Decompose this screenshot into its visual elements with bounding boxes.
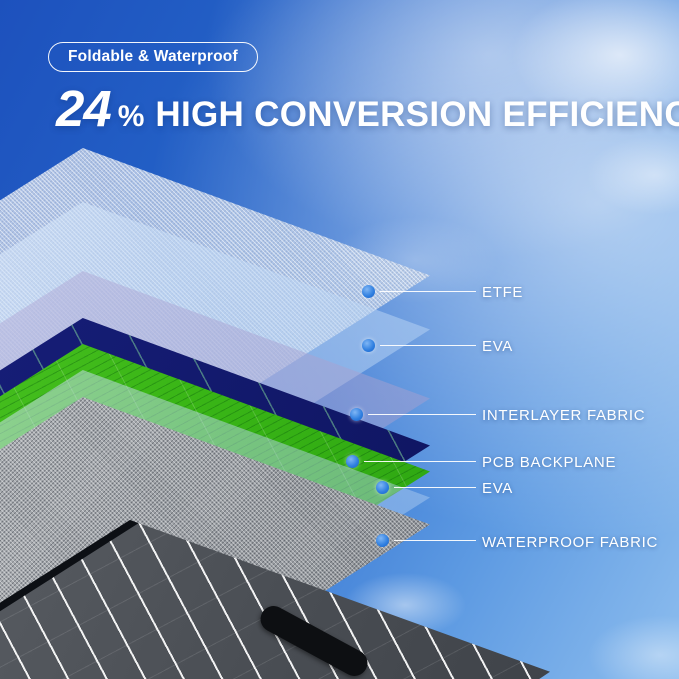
callout-dot-interlayer [350, 408, 363, 421]
feature-badge-label: Foldable & Waterproof [68, 48, 238, 66]
callout-dot-eva-bottom [376, 481, 389, 494]
callout-dot-eva-top [362, 339, 375, 352]
callout-label-waterproof: WATERPROOF FABRIC [482, 534, 658, 551]
callout-dot-waterproof [376, 534, 389, 547]
callout-label-etfe: ETFE [482, 284, 523, 301]
callout-line-waterproof [394, 540, 476, 541]
callout-label-pcb: PCB BACKPLANE [482, 454, 616, 471]
headline-percent: % [118, 102, 145, 132]
infographic-canvas: Foldable & Waterproof 24 % HIGH CONVERSI… [0, 0, 679, 679]
callout-dot-etfe [362, 285, 375, 298]
callout-dot-pcb [346, 455, 359, 468]
callout-line-etfe [380, 291, 476, 292]
callout-line-eva-bottom [394, 487, 476, 488]
callout-label-eva-bottom: EVA [482, 480, 513, 497]
callout-label-interlayer: INTERLAYER FABRIC [482, 407, 645, 424]
callout-label-eva-top: EVA [482, 338, 513, 355]
feature-badge: Foldable & Waterproof [48, 42, 258, 72]
headline-text: HIGH CONVERSION EFFICIENCY [155, 97, 679, 132]
callout-line-interlayer [368, 414, 476, 415]
callout-line-eva-top [380, 345, 476, 346]
headline-number: 24 [56, 83, 111, 134]
callout-line-pcb [364, 461, 476, 462]
page-title: 24 % HIGH CONVERSION EFFICIENCY [56, 83, 679, 134]
